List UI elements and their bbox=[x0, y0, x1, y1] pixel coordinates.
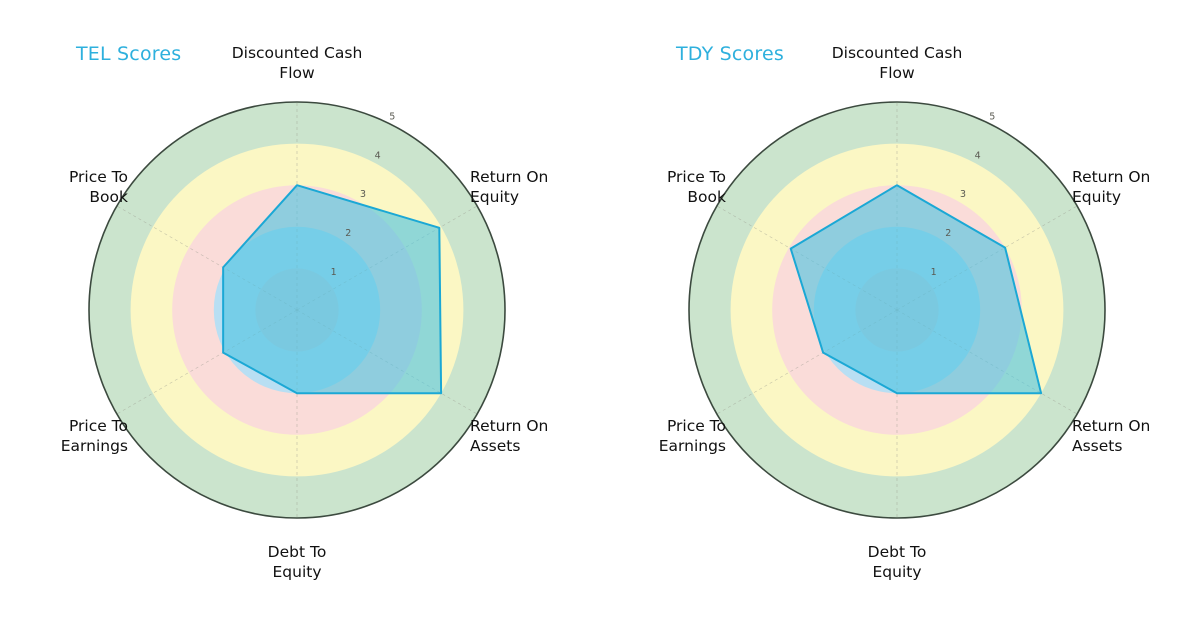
axis-label-ptb: Price To Book bbox=[606, 168, 726, 208]
axis-label-roe: Return On Equity bbox=[1072, 168, 1192, 208]
figure-canvas: TEL Scores 12345 Discounted Cash Flow Re… bbox=[0, 0, 1200, 625]
radial-tick-label: 5 bbox=[389, 111, 395, 122]
axis-label-dte: Debt To Equity bbox=[222, 543, 372, 583]
radar-plot-tdy: 12345 bbox=[600, 0, 1200, 625]
radial-tick-label: 4 bbox=[375, 150, 381, 161]
axis-label-roe: Return On Equity bbox=[470, 168, 590, 208]
radial-tick-label: 3 bbox=[360, 189, 366, 200]
radar-panel-tdy: TDY Scores 12345 Discounted Cash Flow Re… bbox=[600, 0, 1200, 625]
axis-label-dte: Debt To Equity bbox=[822, 543, 972, 583]
axis-label-roa: Return On Assets bbox=[1072, 417, 1192, 457]
axis-label-roa: Return On Assets bbox=[470, 417, 590, 457]
radial-tick-label: 1 bbox=[331, 267, 337, 278]
axis-label-pte: Price To Earnings bbox=[8, 417, 128, 457]
radial-tick-label: 1 bbox=[931, 267, 937, 278]
radial-tick-label: 2 bbox=[945, 228, 951, 239]
radar-plot-tel: 12345 bbox=[0, 0, 600, 625]
radial-tick-label: 3 bbox=[960, 189, 966, 200]
radar-panel-tel: TEL Scores 12345 Discounted Cash Flow Re… bbox=[0, 0, 600, 625]
radial-tick-label: 4 bbox=[975, 150, 981, 161]
radial-tick-label: 2 bbox=[345, 228, 351, 239]
axis-label-pte: Price To Earnings bbox=[606, 417, 726, 457]
axis-label-ptb: Price To Book bbox=[8, 168, 128, 208]
radial-tick-label: 5 bbox=[989, 111, 995, 122]
axis-label-dcf: Discounted Cash Flow bbox=[822, 44, 972, 84]
axis-label-dcf: Discounted Cash Flow bbox=[222, 44, 372, 84]
